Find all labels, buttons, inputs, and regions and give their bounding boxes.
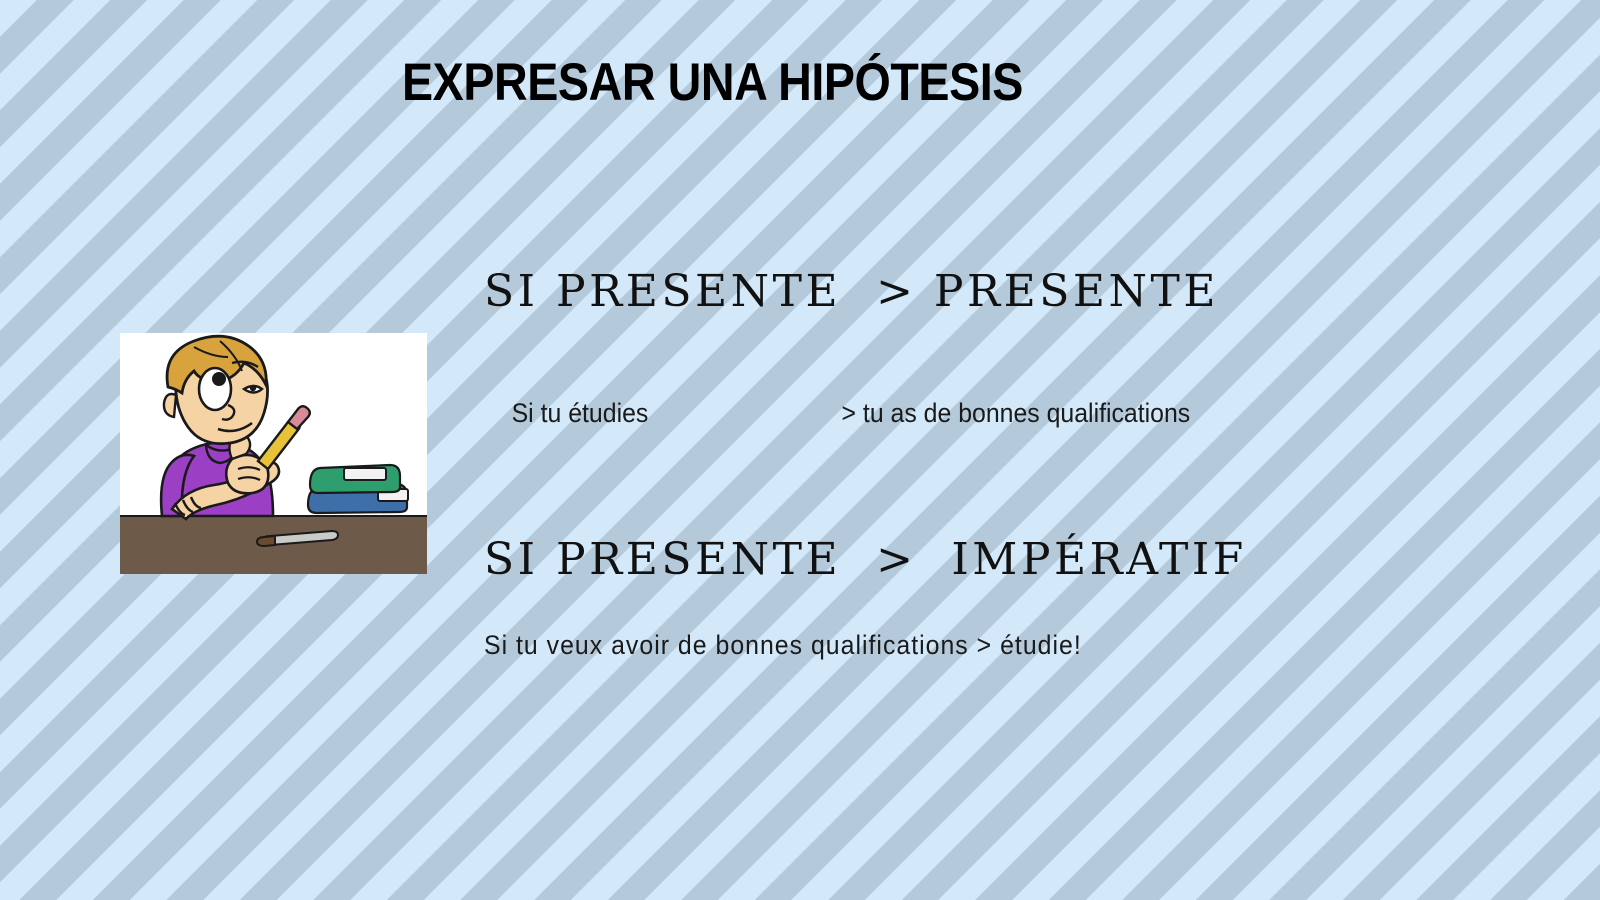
rule-1-formula: SI PRESENTE > PRESENTE [484,266,1219,318]
rule-2-example: Si tu veux avoir de bonnes qualification… [484,628,1082,662]
illustration-thinking-student [120,333,427,574]
rule-1-example: Si tu étudies> tu as de bonnes qualifica… [484,362,1190,464]
slide-canvas: EXPRESAR UNA HIPÓTESIS [0,0,1600,900]
rule-1-example-right: > tu as de bonnes qualifications [842,398,1191,428]
rule-2-formula: SI PRESENTE > IMPÉRATIF [484,534,1247,586]
page-title: EXPRESAR UNA HIPÓTESIS [402,52,1018,114]
rule-1-example-left: Si tu étudies [512,398,649,428]
thinking-student-graphic [120,333,427,574]
